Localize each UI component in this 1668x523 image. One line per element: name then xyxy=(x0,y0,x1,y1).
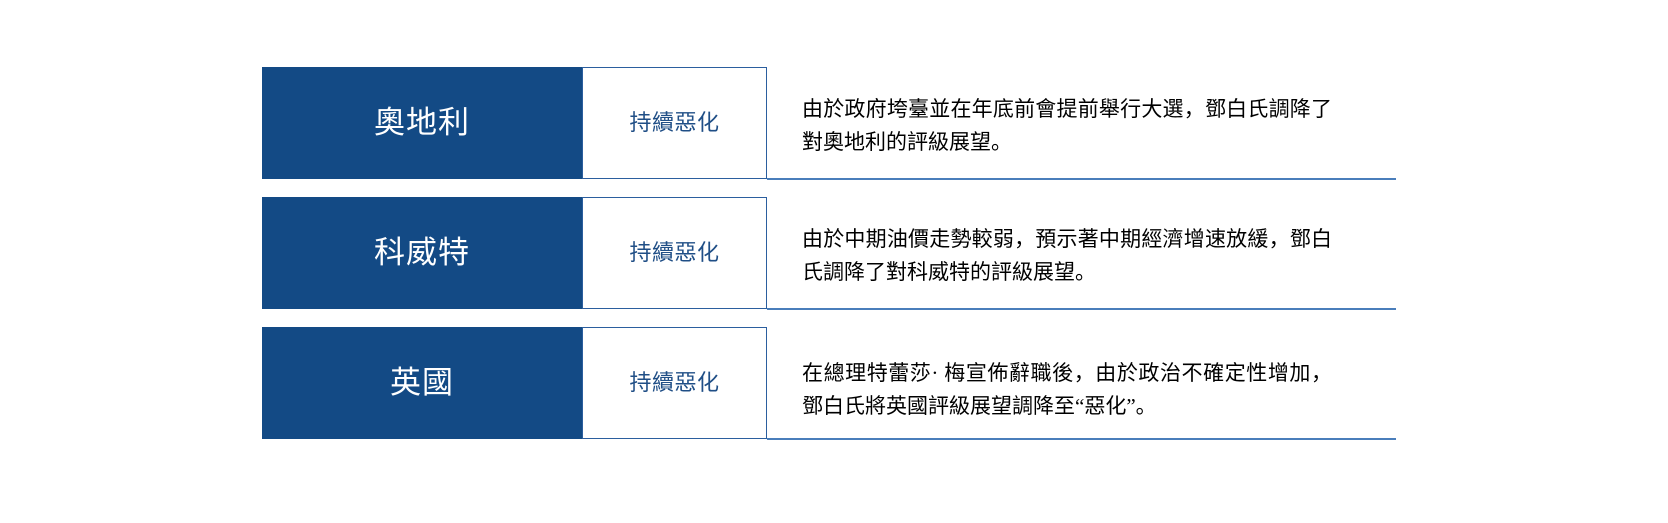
row-divider-rule xyxy=(767,178,1396,180)
country-description-text: 由於政府垮臺並在年底前會提前舉行大選，鄧白氏調降了對奧地利的評級展望。 xyxy=(802,93,1332,159)
country-outlook-row: 奧地利 持續惡化 由於政府垮臺並在年底前會提前舉行大選，鄧白氏調降了對奧地利的評… xyxy=(262,67,1396,184)
outlook-status-label: 持續惡化 xyxy=(629,111,719,135)
outlook-status-label: 持續惡化 xyxy=(629,241,719,265)
country-outlook-row: 英國 持續惡化 在總理特蕾莎· 梅宣佈辭職後，由於政治不確定性增加，鄧白氏將英國… xyxy=(262,327,1396,444)
country-name-label: 奧地利 xyxy=(374,106,470,140)
country-name-block: 奧地利 xyxy=(262,67,582,179)
outlook-status-cell: 持續惡化 xyxy=(582,67,767,179)
row-divider-rule xyxy=(767,438,1396,440)
outlook-status-cell: 持續惡化 xyxy=(582,327,767,439)
country-description-text: 由於中期油價走勢較弱，預示著中期經濟增速放緩，鄧白氏調降了對科威特的評級展望。 xyxy=(802,223,1332,289)
country-name-label: 英國 xyxy=(390,366,454,400)
country-outlook-board: 奧地利 持續惡化 由於政府垮臺並在年底前會提前舉行大選，鄧白氏調降了對奧地利的評… xyxy=(0,0,1668,523)
country-name-label: 科威特 xyxy=(374,236,470,270)
country-name-block: 科威特 xyxy=(262,197,582,309)
country-outlook-row: 科威特 持續惡化 由於中期油價走勢較弱，預示著中期經濟增速放緩，鄧白氏調降了對科… xyxy=(262,197,1396,314)
country-name-block: 英國 xyxy=(262,327,582,439)
outlook-status-cell: 持續惡化 xyxy=(582,197,767,309)
row-divider-rule xyxy=(767,308,1396,310)
country-description-text: 在總理特蕾莎· 梅宣佈辭職後，由於政治不確定性增加，鄧白氏將英國評級展望調降至“… xyxy=(802,357,1332,423)
outlook-status-label: 持續惡化 xyxy=(629,371,719,395)
